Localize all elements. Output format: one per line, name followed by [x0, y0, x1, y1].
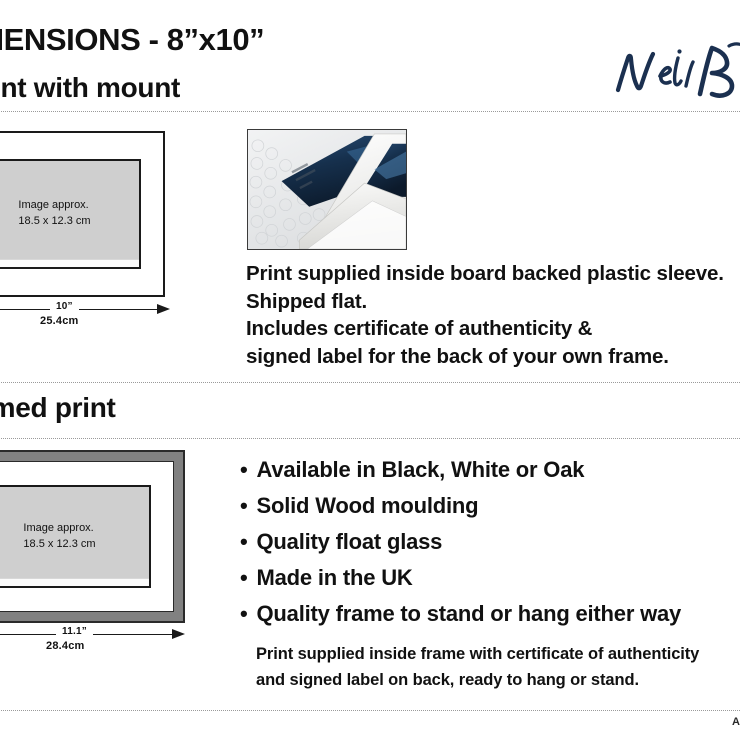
- mount-description: Print supplied inside board backed plast…: [246, 260, 740, 370]
- mount-copy-line2: Shipped flat.: [246, 288, 740, 316]
- arrow-right-icon: [172, 629, 185, 639]
- list-item: Quality frame to stand or hang either wa…: [240, 596, 740, 632]
- frame-width-dimension: 11.1” 28.4cm: [0, 628, 185, 662]
- divider-mid-lower: [0, 438, 740, 440]
- product-dimensions-page: DIMENSIONS - 8”x10” Print with mount NB …: [0, 0, 740, 736]
- frame-image-size-line1: Image approx.: [23, 522, 93, 534]
- divider-bottom: [0, 710, 740, 712]
- frame-image-window: Image approx. 18.5 x 12.3 cm: [0, 485, 151, 588]
- mount-dimension-cm: 25.4cm: [40, 315, 79, 327]
- frame-dimension-cm: 28.4cm: [46, 640, 85, 652]
- divider-top: [0, 111, 740, 113]
- signature-strip: [0, 259, 139, 267]
- mount-dimension-inches: 10”: [50, 301, 79, 312]
- product-photo-mounted-print: [247, 129, 407, 250]
- mount-width-dimension: 10” 25.4cm: [0, 303, 170, 337]
- mount-image-window: Image approx. 18.5 x 12.3 cm: [0, 159, 141, 269]
- frame-description: Print supplied inside frame with certifi…: [256, 641, 740, 693]
- list-item: Solid Wood moulding: [240, 488, 740, 524]
- frame-copy-line2: and signed label on back, ready to hang …: [256, 667, 740, 693]
- section-heading-framed-print: Framed print: [0, 392, 116, 424]
- frame-feature-list: Available in Black, White or Oak Solid W…: [240, 452, 740, 632]
- list-item: Available in Black, White or Oak: [240, 452, 740, 488]
- list-item: Made in the UK: [240, 560, 740, 596]
- footer-note: All: [732, 716, 740, 728]
- frame-image-size-label: Image approx. 18.5 x 12.3 cm: [19, 521, 95, 553]
- frame-copy-line1: Print supplied inside frame with certifi…: [256, 641, 740, 667]
- mount-copy-line3: Includes certificate of authenticity &: [246, 315, 740, 343]
- frame-image-size-line2: 18.5 x 12.3 cm: [23, 538, 95, 550]
- mount-copy-line4: signed label for the back of your own fr…: [246, 343, 740, 371]
- mount-image-size-line1: Image approx.: [18, 199, 88, 211]
- frame-diagram: Image approx. 18.5 x 12.3 cm: [0, 450, 185, 623]
- arrow-right-icon: [157, 304, 170, 314]
- divider-mid-upper: [0, 382, 740, 384]
- page-title: DIMENSIONS - 8”x10”: [0, 22, 264, 58]
- mount-image-size-label: Image approx. 18.5 x 12.3 cm: [14, 198, 90, 230]
- dimension-line: [0, 309, 160, 310]
- brand-logo: NB: [608, 36, 740, 106]
- frame-mount-board: Image approx. 18.5 x 12.3 cm: [0, 461, 174, 612]
- mount-diagram: Image approx. 18.5 x 12.3 cm: [0, 131, 165, 297]
- section-heading-print-with-mount: Print with mount: [0, 72, 180, 104]
- frame-dimension-inches: 11.1”: [56, 626, 93, 637]
- mount-image-size-line2: 18.5 x 12.3 cm: [18, 215, 90, 227]
- mount-copy-line1: Print supplied inside board backed plast…: [246, 260, 740, 288]
- list-item: Quality float glass: [240, 524, 740, 560]
- signature-strip: [0, 578, 149, 586]
